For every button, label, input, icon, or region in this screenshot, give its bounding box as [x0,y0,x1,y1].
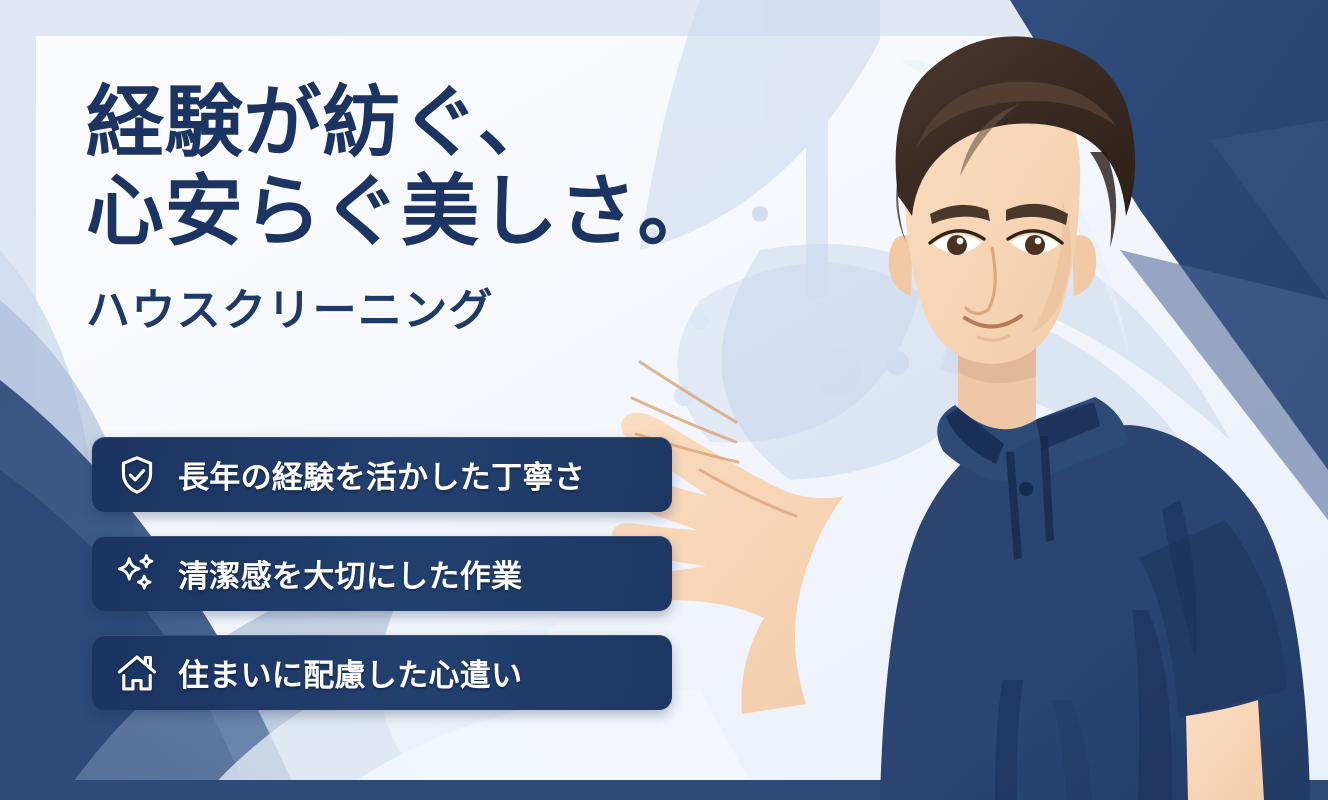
feature-label: 長年の経験を活かした丁寧さ [178,452,585,497]
headline-line-2: 心安らぐ美しさ。 [86,167,726,256]
hero-banner: 経験が紡ぐ、 心安らぐ美しさ。 ハウスクリーニング 長年の経験を活かした丁寧さ [0,0,1328,800]
house-icon [114,650,160,696]
feature-label: 住まいに配慮した心遣い [178,650,522,695]
feature-pill-cleanliness[interactable]: 清潔感を大切にした作業 [92,536,672,611]
feature-pill-home-care[interactable]: 住まいに配慮した心遣い [92,635,672,710]
headline-line-1: 経験が紡ぐ、 [86,78,726,167]
feature-pill-experience[interactable]: 長年の経験を活かした丁寧さ [92,437,672,512]
subheading: ハウスクリーニング [86,274,726,338]
feature-label: 清潔感を大切にした作業 [178,551,522,596]
shield-check-icon [114,452,160,498]
headline-block: 経験が紡ぐ、 心安らぐ美しさ。 ハウスクリーニング [86,78,726,338]
sparkles-icon [114,551,160,597]
feature-list: 長年の経験を活かした丁寧さ 清潔感を大切にした作業 [92,437,672,710]
